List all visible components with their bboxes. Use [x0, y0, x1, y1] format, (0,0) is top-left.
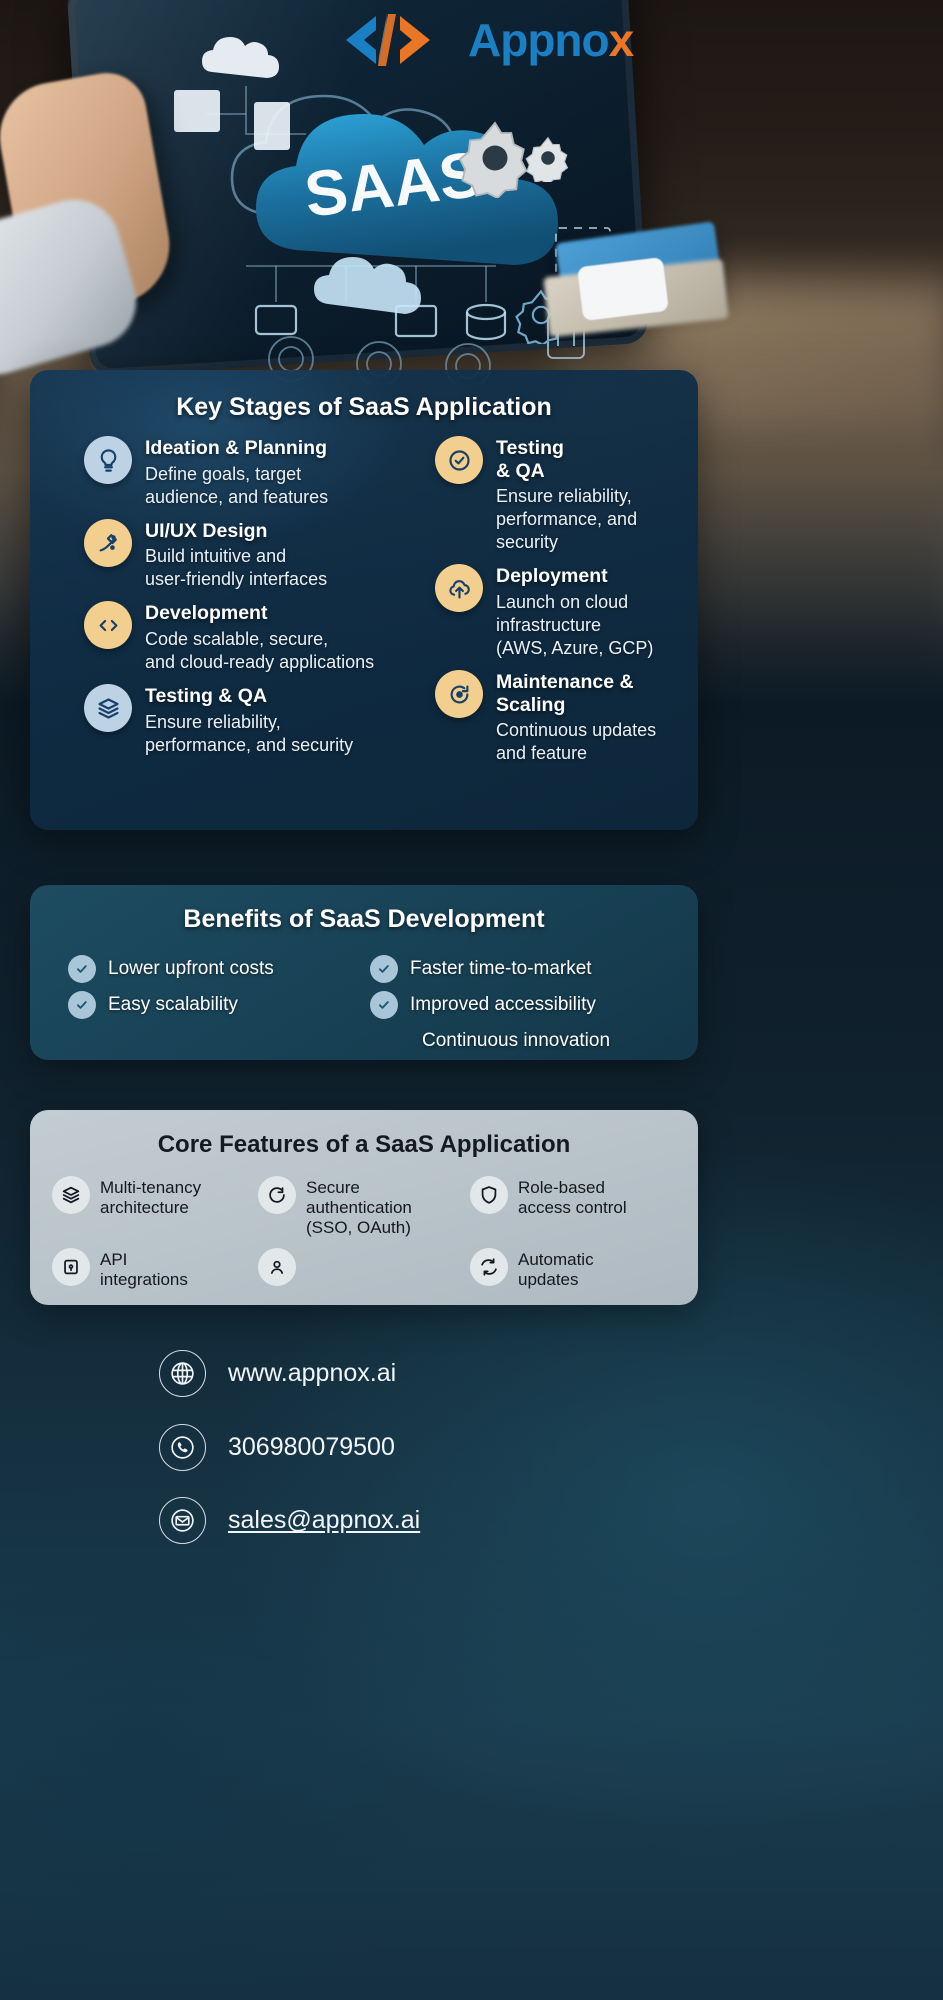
- benefit-item: Improved accessibility: [370, 987, 690, 1023]
- code-icon: [84, 601, 132, 649]
- benefit-label: Faster time-to-market: [410, 958, 592, 980]
- shield-icon: [470, 1176, 508, 1214]
- gear-icon-small: [524, 134, 572, 182]
- core-feature-label: APIintegrations: [100, 1248, 188, 1290]
- sync-icon: [470, 1248, 508, 1286]
- stage-text: Ideation & PlanningDefine goals, targeta…: [145, 436, 328, 509]
- design-pen-icon: [84, 519, 132, 567]
- benefits-title: Benefits of SaaS Development: [30, 905, 698, 934]
- lightbulb-icon: [84, 436, 132, 484]
- stage-description: Ensure reliability,performance, and secu…: [145, 711, 353, 757]
- benefit-item: Faster time-to-market: [370, 951, 690, 987]
- benefit-item: Lower upfront costs: [68, 951, 368, 987]
- website-text[interactable]: www.appnox.ai: [228, 1359, 396, 1388]
- benefits-right-column: Faster time-to-marketImproved accessibil…: [370, 951, 690, 1059]
- stage-heading: Testing& QA: [496, 437, 637, 482]
- core-features-grid: Multi-tenancyarchitectureSecureauthentic…: [52, 1176, 680, 1290]
- layers-icon: [84, 684, 132, 732]
- cloud-upload-icon: [435, 564, 483, 612]
- core-feature-label: Secureauthentication(SSO, OAuth): [306, 1176, 412, 1238]
- stage-heading: Deployment: [496, 565, 653, 588]
- stage-description: Define goals, targetaudience, and featur…: [145, 463, 328, 509]
- phone-icon: [159, 1424, 206, 1471]
- stage-item: Ideation & PlanningDefine goals, targeta…: [84, 436, 384, 509]
- check-circle-icon: [68, 991, 96, 1019]
- stage-text: Testing& QAEnsure reliability,performanc…: [496, 436, 637, 554]
- benefit-extra-label: Continuous innovation: [370, 1023, 690, 1059]
- core-features-title: Core Features of a SaaS Application: [30, 1131, 698, 1159]
- benefits-left-column: Lower upfront costsEasy scalability: [68, 951, 368, 1023]
- envelope-icon: [159, 1497, 206, 1544]
- benefit-label: Easy scalability: [108, 994, 238, 1016]
- check-circle-icon: [370, 991, 398, 1019]
- stage-text: UI/UX DesignBuild intuitive anduser-frie…: [145, 519, 327, 592]
- brand-logo[interactable]: Appnox: [338, 8, 718, 72]
- stage-heading: Ideation & Planning: [145, 437, 328, 460]
- contact-email[interactable]: sales@appnox.ai: [159, 1497, 420, 1544]
- scaling-refresh-icon: [435, 670, 483, 718]
- stage-heading: UI/UX Design: [145, 520, 327, 543]
- brand-name-accent: x: [609, 14, 634, 66]
- stage-description: Ensure reliability,performance, andsecur…: [496, 485, 637, 554]
- smartphone-blurred: [577, 257, 669, 321]
- phone-text[interactable]: 306980079500: [228, 1433, 395, 1462]
- refresh-icon: [258, 1176, 296, 1214]
- globe-icon: [159, 1350, 206, 1397]
- code-brackets-icon: [338, 12, 458, 68]
- stage-item: UI/UX DesignBuild intuitive anduser-frie…: [84, 519, 384, 592]
- core-feature-item: [258, 1248, 470, 1290]
- contact-website[interactable]: www.appnox.ai: [159, 1350, 396, 1397]
- layers-icon: [52, 1176, 90, 1214]
- gear-icon-large: [455, 118, 535, 198]
- stage-text: Maintenance &ScalingContinuous updatesan…: [496, 670, 656, 765]
- core-feature-label: Multi-tenancyarchitecture: [100, 1176, 201, 1218]
- benefit-label: Lower upfront costs: [108, 958, 274, 980]
- stage-text: Testing & QAEnsure reliability,performan…: [145, 684, 353, 757]
- stage-text: DeploymentLaunch on cloudinfrastructure(…: [496, 564, 653, 660]
- benefits-card: Benefits of SaaS Development Lower upfro…: [30, 885, 698, 1060]
- stage-item: DeploymentLaunch on cloudinfrastructure(…: [435, 564, 698, 660]
- key-stages-title: Key Stages of SaaS Application: [30, 393, 698, 422]
- stage-heading: Development: [145, 602, 374, 625]
- core-feature-item: APIintegrations: [52, 1248, 258, 1290]
- check-circle-icon: [435, 436, 483, 484]
- benefit-label: Improved accessibility: [410, 994, 596, 1016]
- contact-phone[interactable]: 306980079500: [159, 1424, 395, 1471]
- key-stages-right-column: Testing& QAEnsure reliability,performanc…: [435, 436, 698, 775]
- stage-description: Code scalable, secure,and cloud-ready ap…: [145, 628, 374, 674]
- check-circle-icon: [68, 955, 96, 983]
- stage-description: Build intuitive anduser-friendly interfa…: [145, 545, 327, 591]
- stage-description: Continuous updatesand feature: [496, 719, 656, 765]
- stage-item: DevelopmentCode scalable, secure,and clo…: [84, 601, 384, 674]
- stage-description: Launch on cloudinfrastructure(AWS, Azure…: [496, 591, 653, 660]
- email-text[interactable]: sales@appnox.ai: [228, 1506, 420, 1535]
- core-feature-item: Automaticupdates: [470, 1248, 680, 1290]
- core-feature-item: Secureauthentication(SSO, OAuth): [258, 1176, 470, 1238]
- stage-text: DevelopmentCode scalable, secure,and clo…: [145, 601, 374, 674]
- key-stages-card: Key Stages of SaaS Application Ideation …: [30, 370, 698, 830]
- core-features-card: Core Features of a SaaS Application Mult…: [30, 1110, 698, 1305]
- benefit-item: Easy scalability: [68, 987, 368, 1023]
- core-feature-label: Automaticupdates: [518, 1248, 594, 1290]
- stage-item: Testing & QAEnsure reliability,performan…: [84, 684, 384, 757]
- stage-item: Maintenance &ScalingContinuous updatesan…: [435, 670, 698, 765]
- infographic-page: SAAS: [0, 0, 943, 2000]
- user-icon: [258, 1248, 296, 1286]
- core-feature-item: Role-basedaccess control: [470, 1176, 680, 1238]
- core-feature-item: Multi-tenancyarchitecture: [52, 1176, 258, 1238]
- core-feature-label: Role-basedaccess control: [518, 1176, 627, 1218]
- lock-icon: [52, 1248, 90, 1286]
- key-stages-left-column: Ideation & PlanningDefine goals, targeta…: [84, 436, 384, 767]
- stage-heading: Testing & QA: [145, 685, 353, 708]
- brand-name-main: Appno: [468, 14, 609, 66]
- check-circle-icon: [370, 955, 398, 983]
- brand-wordmark: Appnox: [468, 17, 633, 63]
- stage-heading: Maintenance &Scaling: [496, 671, 656, 716]
- stage-item: Testing& QAEnsure reliability,performanc…: [435, 436, 698, 554]
